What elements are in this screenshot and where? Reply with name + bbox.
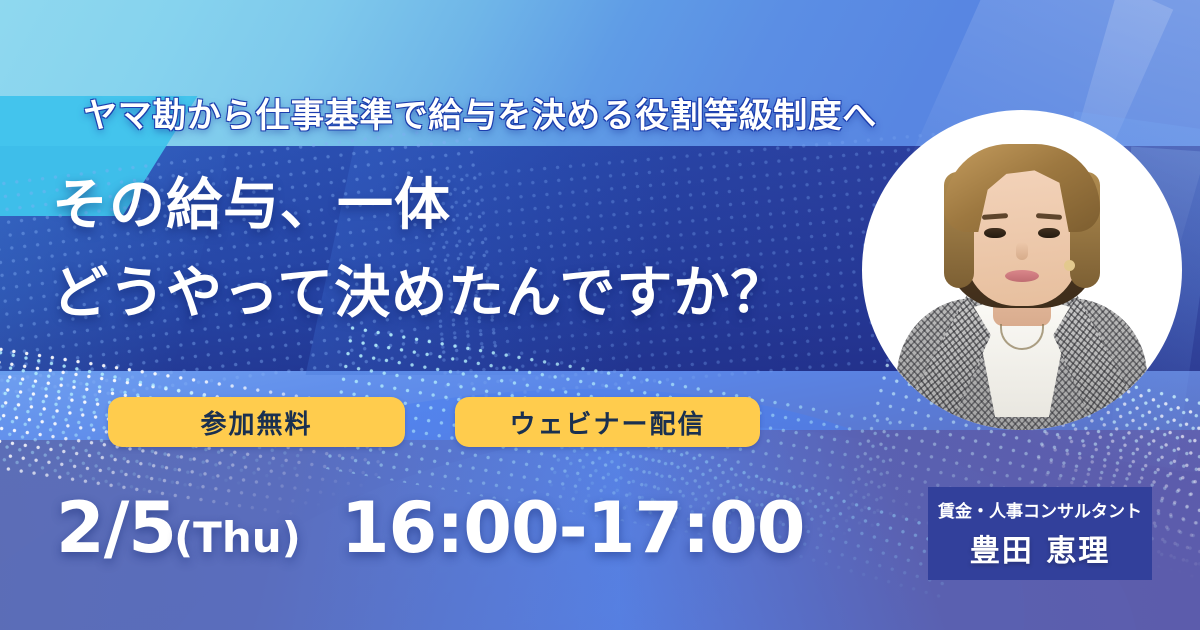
headline-line-2: どうやって決めたんですか？ [52, 266, 872, 322]
speaker-role: 賃金・人事コンサルタント [938, 497, 1142, 522]
portrait-mouth [1005, 270, 1039, 282]
speaker-name: 豊田 恵理 [970, 526, 1110, 570]
badge-free: 参加無料 [108, 397, 405, 447]
speaker-nameplate: 賃金・人事コンサルタント 豊田 恵理 [928, 487, 1152, 580]
badge-webinar: ウェビナー配信 [455, 397, 760, 447]
speaker-portrait [862, 110, 1182, 430]
schedule-date: 2/5 [56, 487, 176, 569]
headline-line-1: その給与、一体 [52, 178, 872, 234]
headline-group: その給与、一体 どうやって決めたんですか？ [52, 178, 872, 322]
schedule-day-of-week: (Thu) [174, 513, 301, 562]
portrait-earring [1064, 260, 1075, 271]
portrait-eye-right [1038, 228, 1060, 238]
banner-subtitle: ヤマ勘から仕事基準で給与を決める役割等級制度へ [0, 88, 960, 137]
portrait-eye-left [984, 228, 1006, 238]
schedule-time: 16:00-17:00 [341, 487, 805, 569]
webinar-banner: ヤマ勘から仕事基準で給与を決める役割等級制度へ その給与、一体 どうやって決めた… [0, 0, 1200, 630]
schedule-group: 2/5 (Thu) 16:00-17:00 [56, 487, 805, 569]
portrait-nose [1016, 242, 1028, 260]
